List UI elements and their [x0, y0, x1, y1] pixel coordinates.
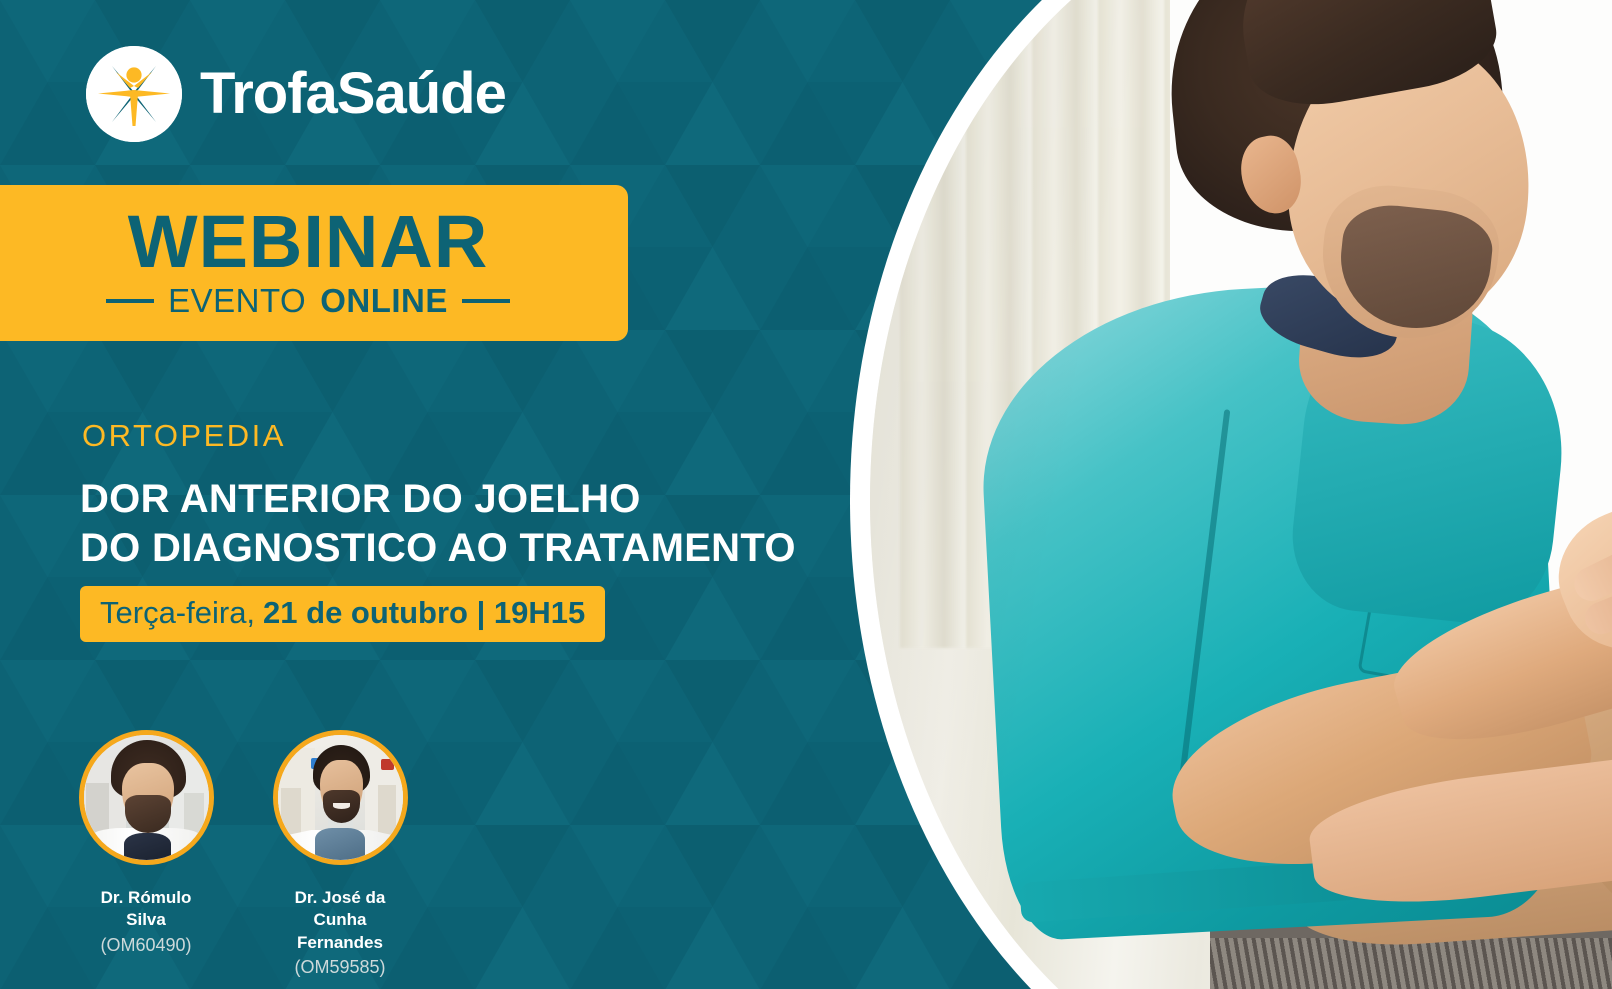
speaker-name-line2: Cunha Fernandes	[274, 909, 406, 954]
speakers-list: Dr. Rómulo Silva (OM60490) Dr. José da C…	[80, 730, 406, 980]
brand-logo[interactable]: TrofaSaúde	[86, 46, 506, 142]
hero-photo-panel	[840, 0, 1612, 989]
trofa-star-person-icon	[86, 46, 182, 142]
physiotherapy-knee-photo	[870, 0, 1612, 989]
doctor-portrait-avatar	[273, 730, 408, 865]
webinar-title: WEBINAR	[128, 206, 489, 277]
speaker-card: Dr. José da Cunha Fernandes (OM59585)	[274, 730, 406, 980]
webinar-subtitle: EVENTO ONLINE	[106, 282, 510, 320]
dash-right-decoration	[462, 299, 510, 303]
speaker-registration: (OM59585)	[294, 956, 385, 979]
speaker-name: Dr. José da Cunha Fernandes	[274, 887, 406, 954]
date-weekday: Terça-feira,	[100, 595, 255, 631]
speaker-name: Dr. Rómulo Silva	[80, 887, 212, 932]
talk-title-line2: DO DIAGNOSTICO AO TRATAMENTO	[80, 524, 796, 573]
subtitle-online: ONLINE	[320, 282, 448, 320]
brand-name: TrofaSaúde	[200, 65, 506, 123]
speaker-registration: (OM60490)	[100, 934, 191, 957]
doctor-portrait-avatar	[79, 730, 214, 865]
date-badge: Terça-feira, 21 de outubro | 19H15	[80, 586, 605, 642]
date-time: 21 de outubro | 19H15	[263, 595, 585, 631]
speaker-card: Dr. Rómulo Silva (OM60490)	[80, 730, 212, 980]
speaker-name-line1: Dr. José da	[274, 887, 406, 909]
dash-left-decoration	[106, 299, 154, 303]
subtitle-evento: EVENTO	[168, 282, 306, 320]
talk-title: DOR ANTERIOR DO JOELHO DO DIAGNOSTICO AO…	[80, 475, 796, 573]
webinar-poster: TrofaSaúde WEBINAR EVENTO ONLINE ORTOPED…	[0, 0, 1612, 989]
talk-title-line1: DOR ANTERIOR DO JOELHO	[80, 475, 796, 524]
webinar-banner: WEBINAR EVENTO ONLINE	[0, 185, 628, 341]
specialty-label: ORTOPEDIA	[82, 418, 286, 454]
